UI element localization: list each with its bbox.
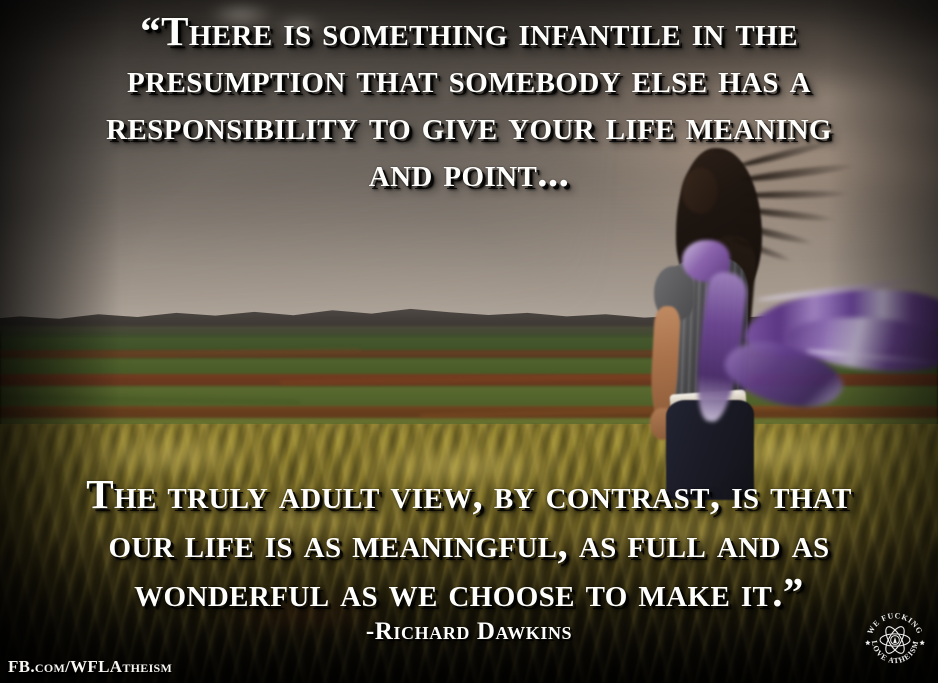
- hair-wisp: [739, 139, 834, 169]
- quote-poster: “There is something infantile in the pre…: [0, 0, 938, 683]
- cloud-light-break: [370, 30, 418, 42]
- sunlit-grass-tuft: [330, 444, 590, 488]
- page-watermark: FB.com/WFLAtheism: [8, 657, 172, 677]
- atheism-atom-icon: WE FUCKING LOVE ATHEISM: [861, 606, 929, 674]
- sunlit-grass-tuft: [60, 436, 280, 476]
- cloud-light-break: [210, 6, 272, 23]
- sunlit-grass-tuft: [150, 500, 450, 540]
- background-photograph: [0, 0, 938, 683]
- cloud-light-break: [276, 20, 322, 33]
- hair-wisp: [740, 162, 856, 184]
- logo-bottom-arc-text: LOVE ATHEISM: [870, 639, 921, 665]
- woman-figure: [636, 140, 938, 490]
- rain-veil: [38, 58, 582, 308]
- face: [682, 168, 718, 214]
- brand-logo: WE FUCKING LOVE ATHEISM: [861, 606, 929, 674]
- hair-wisp: [742, 190, 850, 199]
- logo-top-arc-text: WE FUCKING: [865, 611, 924, 636]
- earth-patch: [210, 596, 390, 630]
- sunlit-grass-tuft: [540, 510, 860, 554]
